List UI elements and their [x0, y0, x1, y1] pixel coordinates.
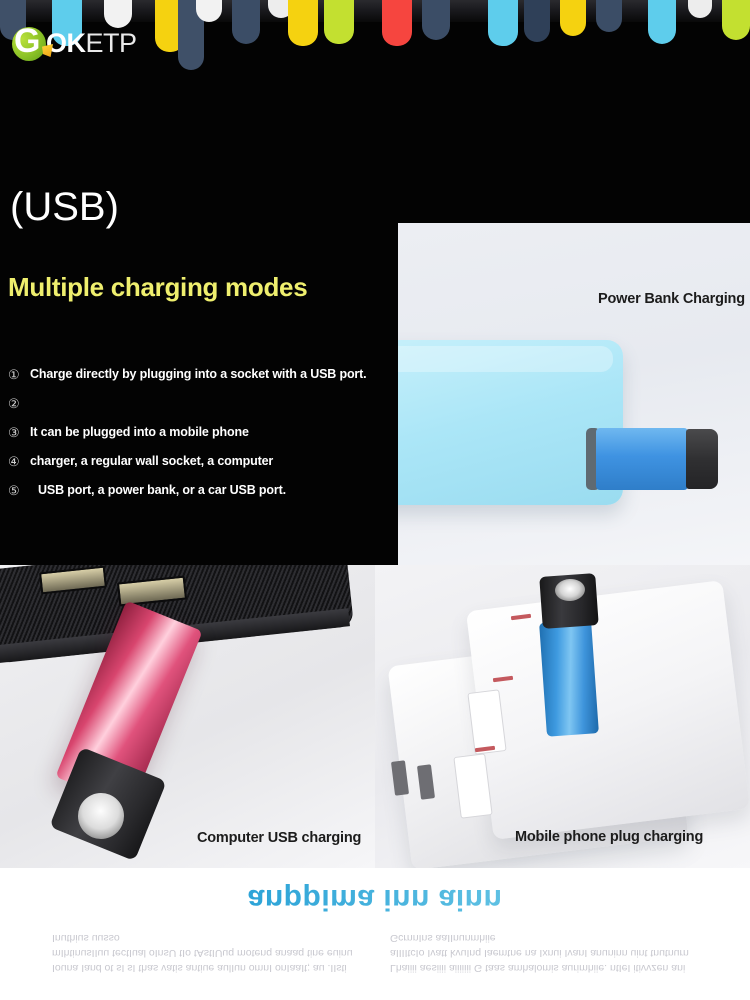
blue-usb-device-body: [596, 428, 688, 490]
logo-mark-icon: G: [12, 24, 56, 62]
charging-mode-item: ①Charge directly by plugging into a sock…: [0, 365, 400, 394]
pill-slate-3: [232, 0, 260, 44]
pill-slate-5: [524, 0, 550, 42]
pill-lime-1: [324, 0, 354, 44]
logo-letter-g: G: [14, 24, 39, 58]
photo-mobile-plug-charging: Mobile phone plug charging: [375, 565, 750, 868]
pill-yellow-2: [288, 0, 318, 46]
wall-adapter-face: [466, 580, 750, 840]
blue-usb-device-cap: [686, 429, 718, 489]
usb-title: (USB): [10, 185, 119, 230]
pill-lime-2: [722, 0, 750, 40]
charging-mode-item: ③It can be plugged into a mobile phone: [0, 423, 400, 452]
logo-wordmark-secondary: ETP: [86, 28, 137, 58]
pill-slate-6: [596, 0, 622, 32]
list-marker: ②: [0, 394, 30, 414]
photo-computer-usb-charging: Computer USB charging: [0, 565, 375, 868]
pill-cyan-2: [488, 0, 518, 46]
logo-wordmark: OKETP: [46, 28, 137, 58]
photo-power-bank-charging: Power Bank Charging: [398, 223, 750, 565]
list-marker: ③: [0, 423, 30, 443]
section-title: Multiple charging modes: [8, 272, 307, 303]
pill-slate-4: [422, 0, 450, 40]
footer-columns: Iouna Iand ot sI sI thas vatis antiue au…: [0, 930, 750, 975]
brand-logo[interactable]: G OKETP: [12, 24, 137, 62]
header-banner: G OKETP: [0, 0, 750, 80]
charging-mode-item: ②: [0, 394, 400, 423]
list-marker: ⑤: [0, 481, 30, 501]
list-marker: ①: [0, 365, 30, 385]
photo-label-power-bank: Power Bank Charging: [598, 291, 745, 307]
list-item-text: It can be plugged into a mobile phone: [30, 423, 249, 442]
list-item-text: charger, a regular wall socket, a comput…: [30, 452, 273, 471]
footer-section: anppima inn ainn Iouna Iand ot sI sI tha…: [0, 868, 750, 1000]
list-item-text: Charge directly by plugging into a socke…: [30, 365, 366, 384]
list-marker: ④: [0, 452, 30, 472]
photo-label-computer-usb: Computer USB charging: [197, 830, 361, 846]
charging-modes-list: ①Charge directly by plugging into a sock…: [0, 365, 400, 510]
footer-paragraph-right: Lhaiiii aesiiii aiiiiiii G taas amhalomi…: [390, 930, 698, 975]
pill-red-1: [382, 0, 412, 46]
photo-label-mobile-plug: Mobile phone plug charging: [515, 829, 703, 845]
charging-mode-item: ④charger, a regular wall socket, a compu…: [0, 452, 400, 481]
pill-cyan-3: [648, 0, 676, 44]
pill-yellow-3: [560, 0, 586, 36]
footer-paragraph-left: Iouna Iand ot sI sI thas vatis antiue au…: [52, 930, 360, 975]
list-item-text-line-4: USB port, a power bank, or a car USB por…: [38, 481, 286, 500]
blue-plug-device-body: [539, 619, 599, 736]
footer-heading: anppima inn ainn: [0, 882, 750, 916]
